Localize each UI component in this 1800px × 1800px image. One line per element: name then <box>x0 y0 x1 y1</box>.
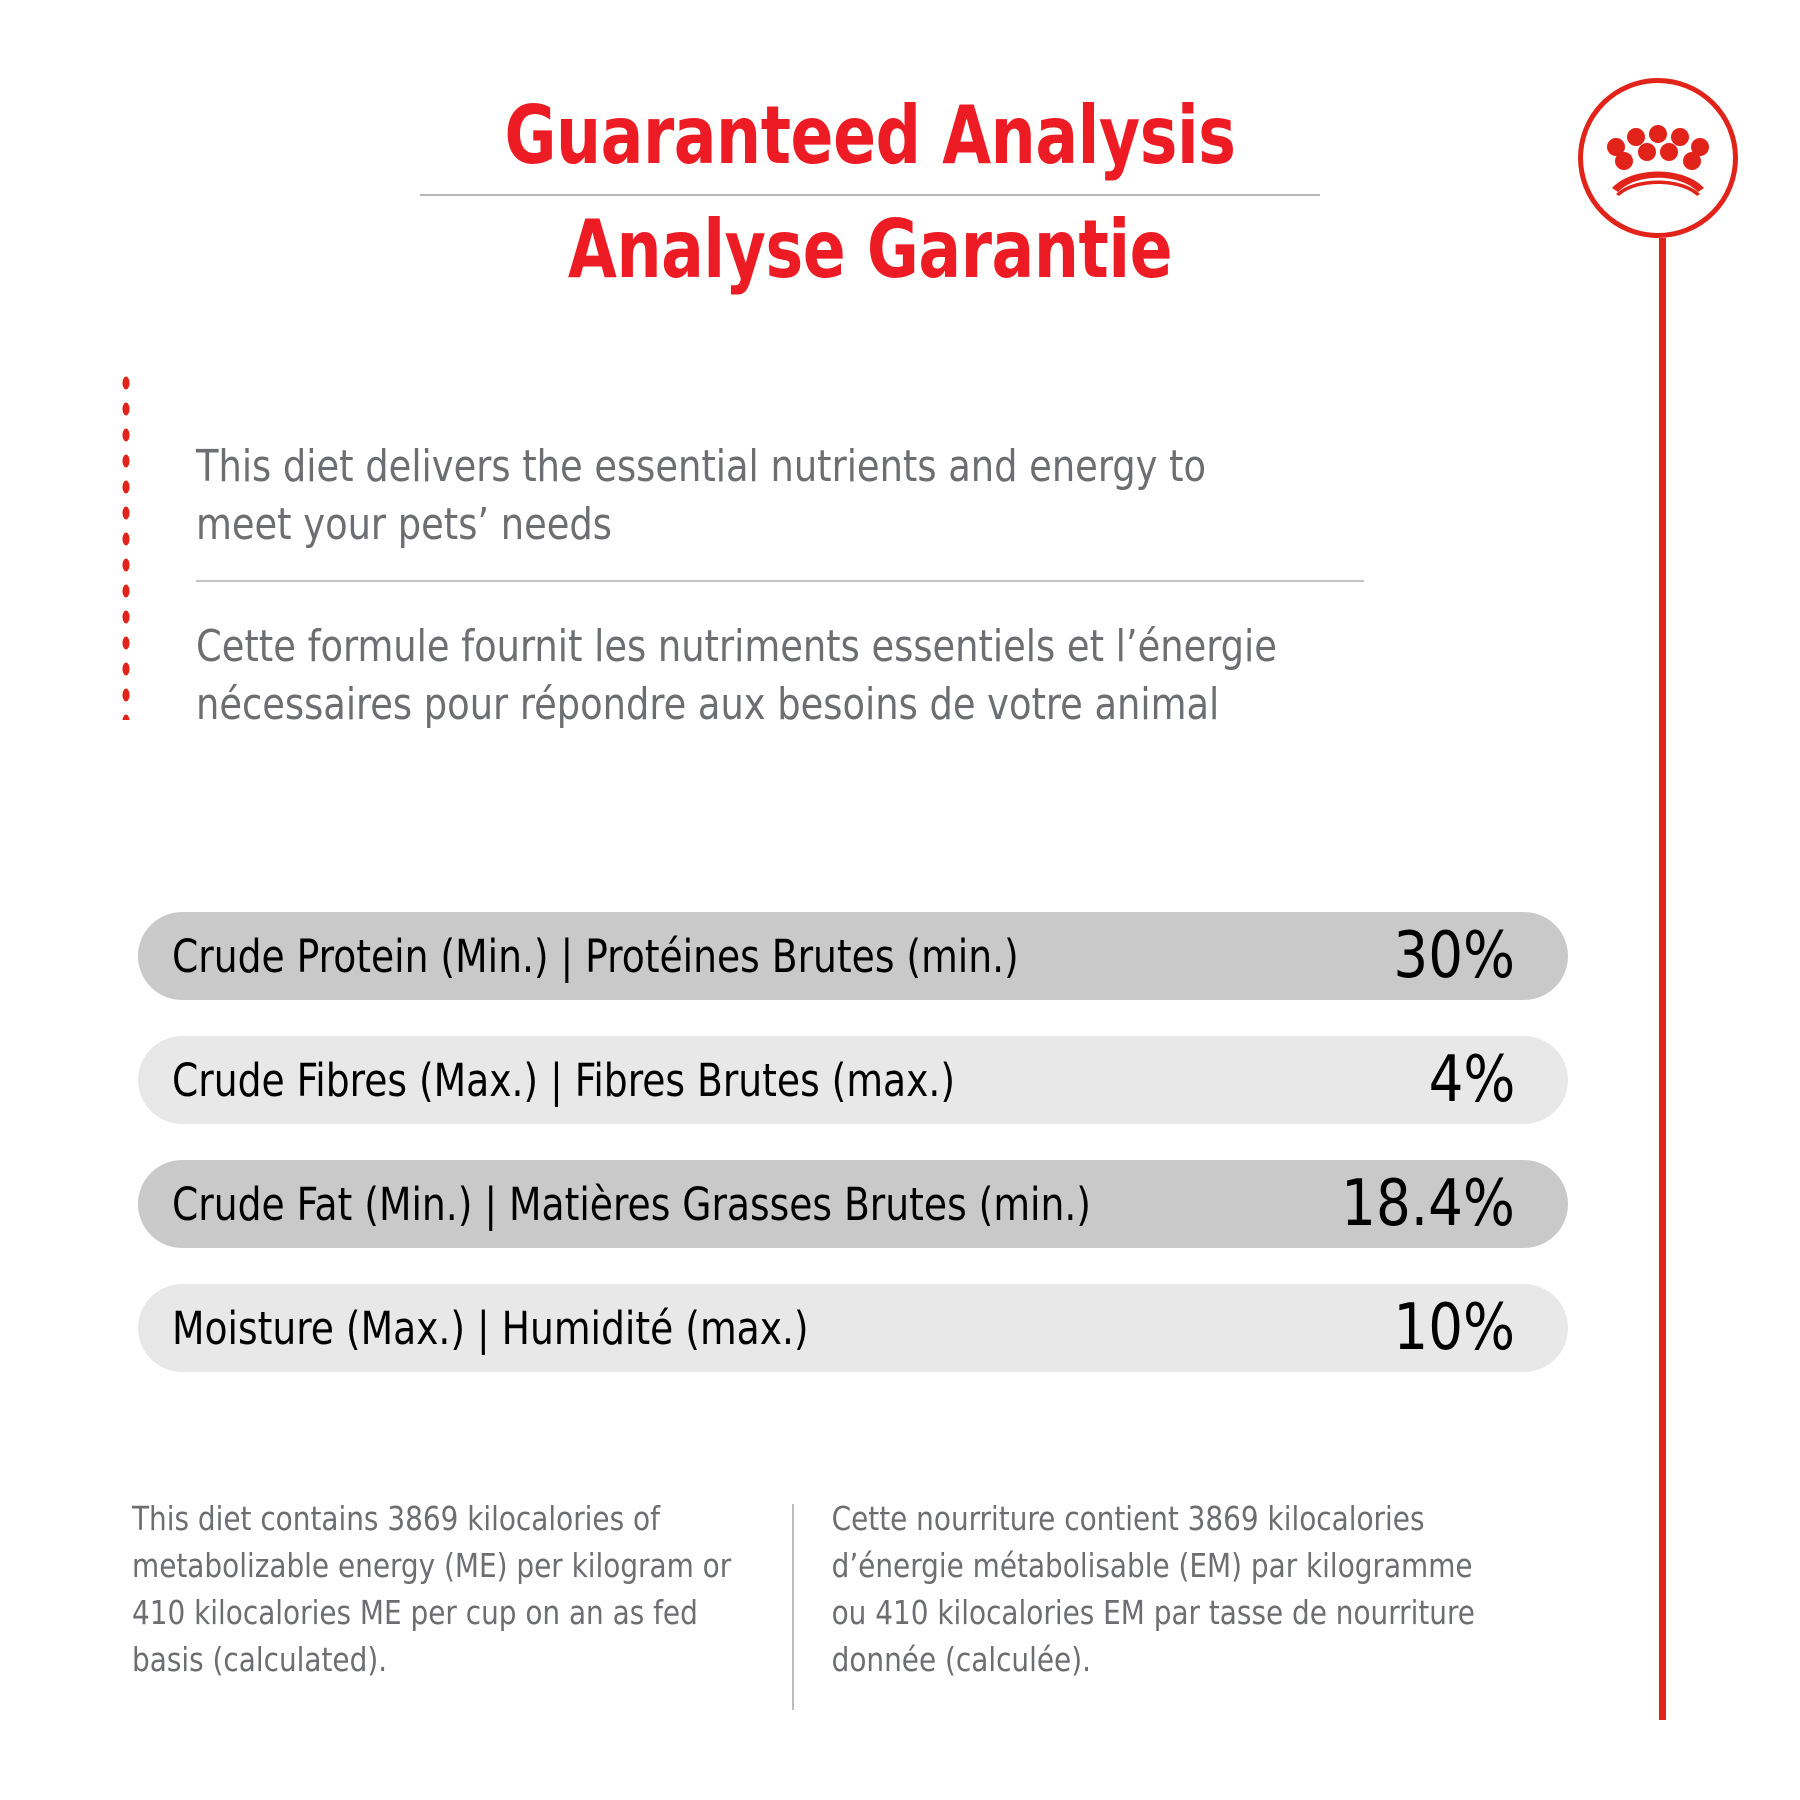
intro-divider <box>196 580 1364 582</box>
title-french: Analyse Garantie <box>474 196 1266 290</box>
nutrient-value: 18.4% <box>1341 1172 1534 1236</box>
intro-block: This diet delivers the essential nutrien… <box>196 438 1376 734</box>
nutrient-label: Crude Fat (Min.) | Matières Grasses Brut… <box>172 1182 1091 1227</box>
nutrient-row: Crude Protein (Min.) | Protéines Brutes … <box>138 912 1568 1000</box>
nutrient-row: Crude Fibres (Max.) | Fibres Brutes (max… <box>138 1036 1568 1124</box>
page-title: Guaranteed Analysis Analyse Garantie <box>420 96 1320 290</box>
nutrient-value: 30% <box>1393 924 1534 988</box>
nutrient-row: Moisture (Max.) | Humidité (max.) 10% <box>138 1284 1568 1372</box>
intro-french: Cette formule fournit les nutriments ess… <box>196 618 1293 734</box>
nutrient-value: 4% <box>1428 1048 1534 1112</box>
nutrient-label: Moisture (Max.) | Humidité (max.) <box>172 1306 809 1351</box>
crown-icon <box>1602 122 1714 196</box>
logo-stem-line <box>1659 238 1666 1720</box>
title-english: Guaranteed Analysis <box>474 96 1266 186</box>
footer-english: This diet contains 3869 kilocalories of … <box>132 1496 752 1720</box>
calorie-content-footer: This diet contains 3869 kilocalories of … <box>132 1496 1572 1720</box>
guaranteed-analysis-table: Crude Protein (Min.) | Protéines Brutes … <box>138 912 1568 1408</box>
nutrient-label: Crude Fibres (Max.) | Fibres Brutes (max… <box>172 1058 955 1103</box>
nutrient-label: Crude Protein (Min.) | Protéines Brutes … <box>172 934 1019 979</box>
dotted-accent-rail <box>119 370 133 720</box>
brand-logo <box>1578 78 1750 250</box>
nutrient-value: 10% <box>1393 1296 1534 1360</box>
intro-english: This diet delivers the essential nutrien… <box>196 438 1293 554</box>
footer-french: Cette nourriture contient 3869 kilocalor… <box>794 1496 1508 1720</box>
nutrient-row: Crude Fat (Min.) | Matières Grasses Brut… <box>138 1160 1568 1248</box>
